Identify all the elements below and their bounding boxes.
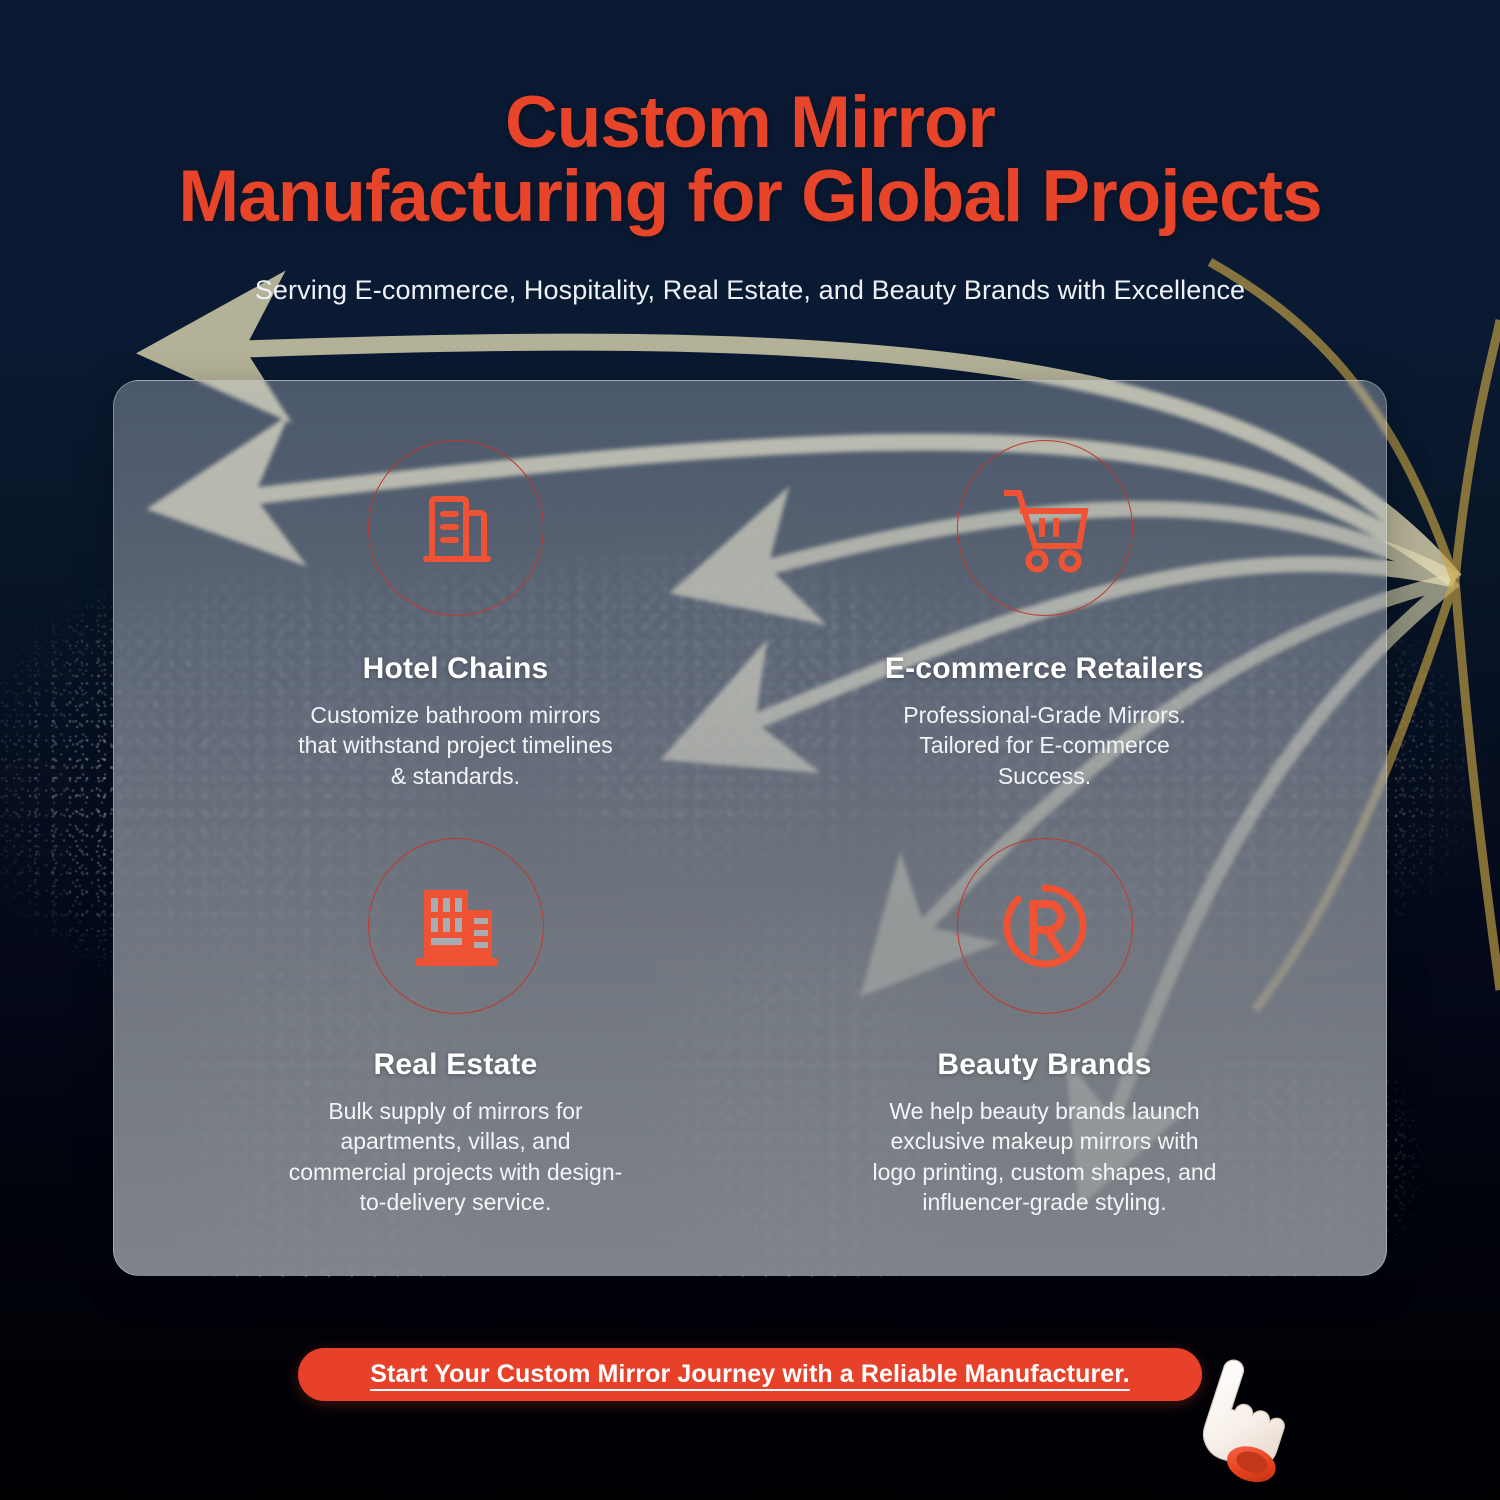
card-description: We help beauty brands launch exclusive m… <box>870 1096 1220 1217</box>
card-title: Real Estate <box>374 1048 538 1082</box>
card-ecommerce-retailers[interactable]: E-commerce Retailers Professional-Grade … <box>750 440 1339 838</box>
shopping-cart-icon <box>995 480 1095 576</box>
start-journey-button[interactable]: Start Your Custom Mirror Journey with a … <box>298 1348 1202 1401</box>
card-title: Hotel Chains <box>363 652 549 686</box>
audience-cards-grid: Hotel Chains Customize bathroom mirrors … <box>113 380 1387 1276</box>
icon-ring <box>957 440 1133 616</box>
pointing-hand-cursor-icon <box>1178 1356 1298 1486</box>
icon-ring <box>368 440 544 616</box>
hotel-building-icon <box>408 480 504 576</box>
header: Custom Mirror Manufacturing for Global P… <box>0 0 1500 306</box>
card-beauty-brands[interactable]: Beauty Brands We help beauty brands laun… <box>750 838 1339 1236</box>
page-title-line2: Manufacturing for Global Projects <box>178 156 1321 237</box>
card-description: Customize bathroom mirrors that withstan… <box>291 700 621 791</box>
card-title: E-commerce Retailers <box>885 652 1204 686</box>
icon-ring <box>957 838 1133 1014</box>
page-subtitle: Serving E-commerce, Hospitality, Real Es… <box>0 275 1500 306</box>
card-description: Bulk supply of mirrors for apartments, v… <box>281 1096 631 1217</box>
page-title-line1: Custom Mirror <box>505 82 995 163</box>
registered-trademark-icon <box>995 876 1095 976</box>
card-real-estate[interactable]: Real Estate Bulk supply of mirrors for a… <box>161 838 750 1236</box>
icon-ring <box>368 838 544 1014</box>
cta-button-label: Start Your Custom Mirror Journey with a … <box>370 1360 1130 1389</box>
card-title: Beauty Brands <box>937 1048 1151 1082</box>
page-title: Custom Mirror Manufacturing for Global P… <box>0 0 1500 235</box>
office-buildings-icon <box>406 880 506 972</box>
card-hotel-chains[interactable]: Hotel Chains Customize bathroom mirrors … <box>161 440 750 838</box>
card-description: Professional-Grade Mirrors. Tailored for… <box>885 700 1205 791</box>
